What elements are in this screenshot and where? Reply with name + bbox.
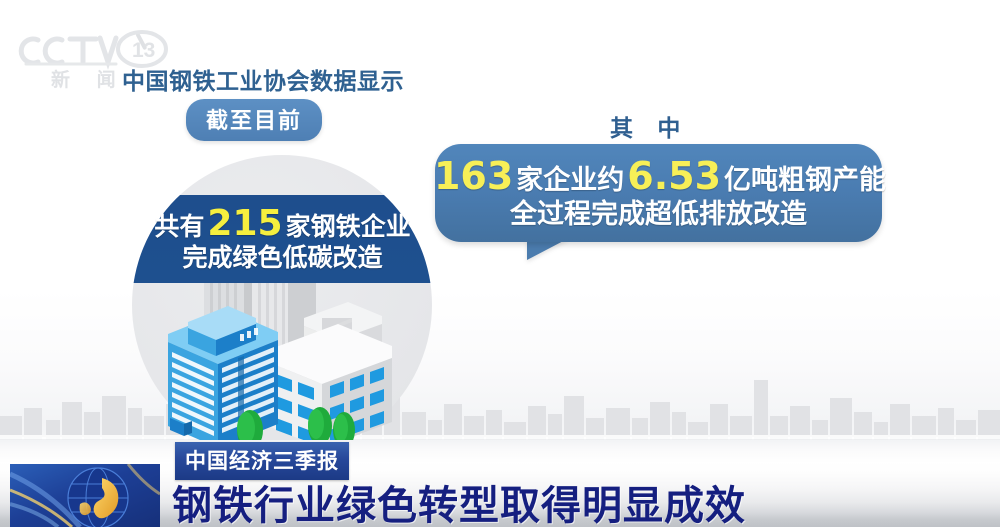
bubble-stat-number-capacity: 6.53 — [624, 157, 724, 195]
globe-graphic — [10, 464, 160, 527]
bubble-stat-suffix: 亿吨粗钢产能 — [724, 166, 886, 194]
bubble-stat-text: 163 家企业约 6.53 亿吨粗钢产能 全过程完成超低排放改造 — [435, 144, 882, 242]
circle-stat-number: 215 — [204, 206, 285, 242]
circle-stat-text: 共有 215 家钢铁企业 完成绿色低碳改造 — [133, 195, 432, 283]
isometric-city-buildings — [152, 262, 442, 462]
svg-text:13: 13 — [132, 39, 155, 62]
circle-stat-prefix: 共有 — [154, 214, 204, 241]
circle-stat-band: 共有 215 家钢铁企业 完成绿色低碳改造 — [133, 195, 432, 283]
lower-third-top-strip — [0, 440, 1000, 464]
lower-third: 中国经济三季报 钢铁行业绿色转型取得明显成效 — [0, 440, 1000, 527]
cctv-sub-label: 新 闻 — [51, 68, 126, 91]
bubble-stat-mid: 家企业约 — [516, 166, 624, 194]
lower-third-headline: 钢铁行业绿色转型取得明显成效 — [172, 473, 746, 527]
circle-stat-suffix: 家钢铁企业 — [286, 214, 411, 241]
broadcast-graphic-stage: 共有 215 家钢铁企业 完成绿色低碳改造 13 新 闻 — [0, 0, 1000, 527]
source-heading: 中国钢铁工业协会数据显示 — [122, 62, 404, 96]
bubble-stat-number-companies: 163 — [431, 157, 516, 195]
as-of-pill[interactable]: 截至目前 — [186, 99, 322, 141]
among-which-label: 其 中 — [610, 109, 689, 143]
circle-stat-line2: 完成绿色低碳改造 — [182, 245, 382, 272]
bubble-stat-line2: 全过程完成超低排放改造 — [510, 200, 807, 228]
speech-bubble: 163 家企业约 6.53 亿吨粗钢产能 全过程完成超低排放改造 — [435, 144, 882, 242]
